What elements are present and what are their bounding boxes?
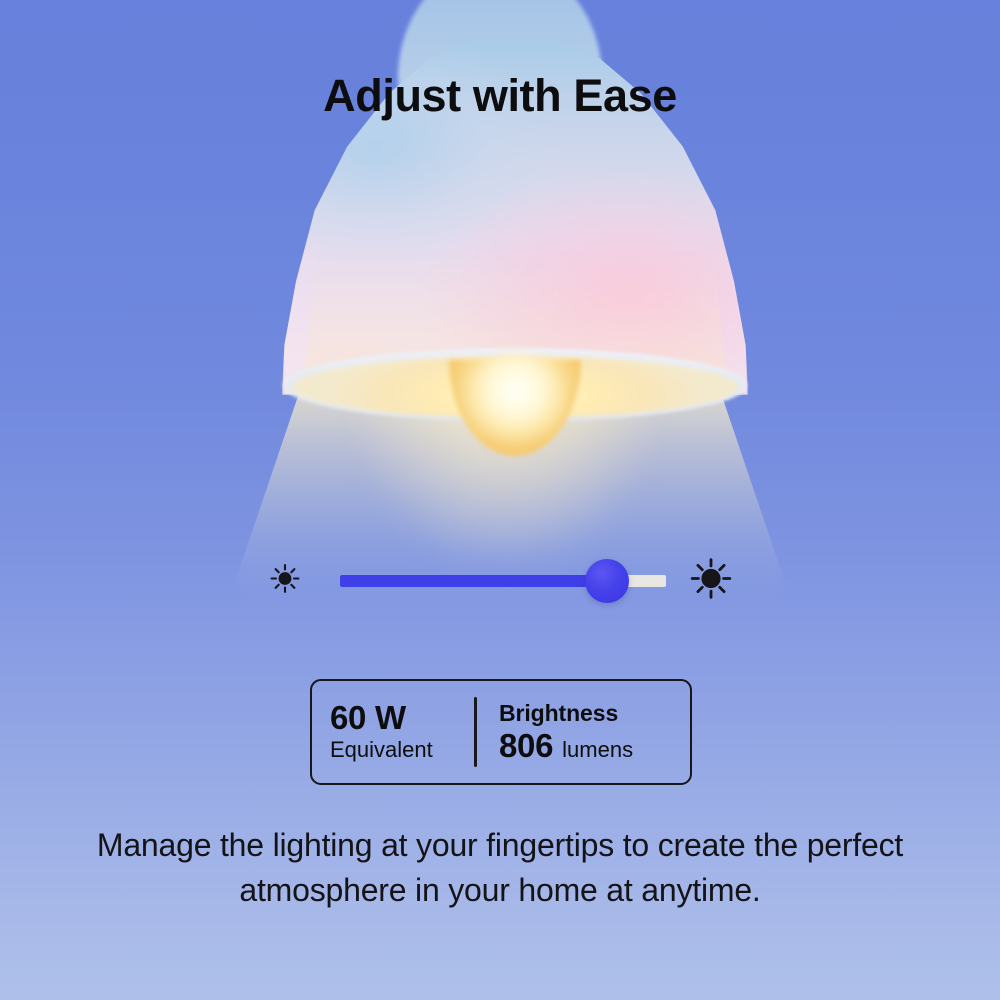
brightness-label: Brightness [499, 700, 618, 728]
light-bulb-glow [468, 352, 564, 438]
page-title: Adjust with Ease [0, 70, 1000, 122]
lamp-shade-rim [283, 348, 747, 422]
slider-track-fill [340, 575, 607, 587]
brightness-value-row: 806 lumens [499, 728, 633, 764]
wattage-value: 60 W [330, 700, 406, 736]
spec-box: 60 W Equivalent Brightness 806 lumens [310, 679, 692, 785]
slider-thumb[interactable] [585, 559, 629, 603]
slider-track[interactable] [340, 575, 666, 587]
sun-small-icon [268, 562, 302, 601]
wattage-spec: 60 W Equivalent [312, 681, 474, 783]
product-feature-card: Adjust with Ease [0, 0, 1000, 1000]
brightness-unit: lumens [562, 736, 633, 764]
sun-large-icon [688, 556, 734, 607]
caption-text: Manage the lighting at your fingertips t… [60, 823, 940, 914]
light-bulb [449, 360, 581, 456]
lamp-shade-warm-tint [300, 250, 730, 400]
lamp-shade-opening [292, 356, 738, 418]
light-cone-glow [360, 378, 650, 558]
wattage-sublabel: Equivalent [330, 736, 433, 764]
brightness-spec: Brightness 806 lumens [477, 681, 690, 783]
brightness-value: 806 [499, 728, 553, 764]
brightness-slider[interactable] [262, 551, 738, 611]
